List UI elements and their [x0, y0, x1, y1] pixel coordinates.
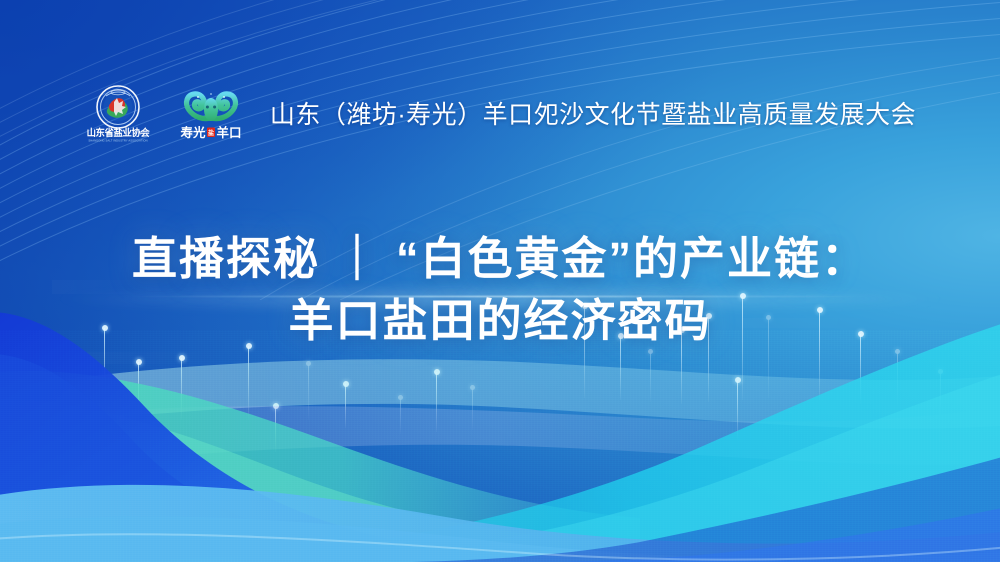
event-title: 山东（潍坊·寿光）羊口夗沙文化节暨盐业高质量发展大会: [270, 95, 916, 131]
main-title-block: 直播探秘 ｜ “白色黄金”的产业链： 羊口盐田的经济密码: [0, 228, 1000, 352]
svg-text:SHANDONG SALT INDUSTRY ASSOCIA: SHANDONG SALT INDUSTRY ASSOCIATION: [88, 138, 147, 142]
svg-text:羊口: 羊口: [216, 125, 241, 140]
svg-text:盐: 盐: [208, 129, 214, 137]
grain-texture-overlay: [0, 330, 1000, 562]
header-bar: 山东省盐业协会 SHANDONG SALT INDUSTRY ASSOCIATI…: [0, 82, 1000, 144]
svg-text:寿光: 寿光: [180, 125, 206, 140]
shouguang-yangkou-logo: 寿光 盐 羊口: [174, 84, 248, 142]
poster-canvas: 山东省盐业协会 SHANDONG SALT INDUSTRY ASSOCIATI…: [0, 0, 1000, 562]
shandong-salt-association-logo: 山东省盐业协会 SHANDONG SALT INDUSTRY ASSOCIATI…: [84, 84, 152, 142]
main-title-line-1: 直播探秘 ｜ “白色黄金”的产业链：: [0, 228, 1000, 290]
svg-text:山东省盐业协会: 山东省盐业协会: [86, 127, 150, 138]
main-title-line-2: 羊口盐田的经济密码: [0, 290, 1000, 352]
plate-decoration-2: [84, 352, 234, 364]
